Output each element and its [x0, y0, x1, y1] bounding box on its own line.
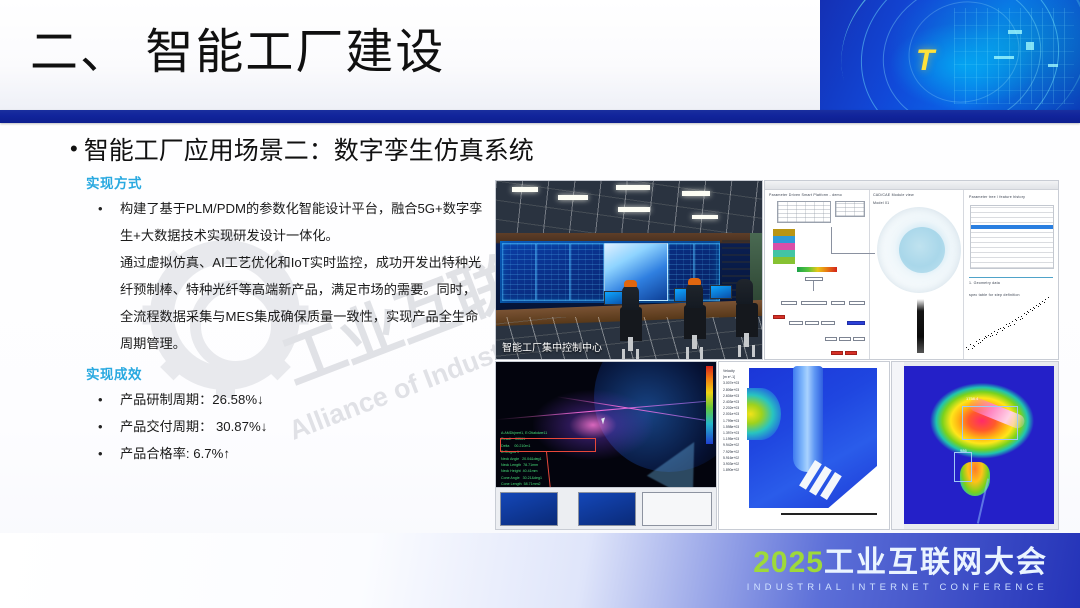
section-heading-implementation: 实现方式	[86, 172, 486, 192]
implementation-bullet-list: 构建了基于PLM/PDM的参数化智能设计平台，融合5G+数字孪生+大数据技术实现…	[86, 195, 486, 249]
thermal-roi-box	[954, 452, 972, 482]
thermal-roi-box	[962, 406, 1018, 440]
thumbnail-view[interactable]	[500, 492, 558, 526]
decorative-circuit-grid	[954, 8, 1074, 104]
cfd-furnace-tube	[793, 366, 823, 472]
slide-header: T 二、 智能工厂建设	[0, 0, 1080, 110]
decorative-blip	[1008, 30, 1022, 34]
header-divider	[0, 110, 1080, 123]
operator-person	[622, 285, 639, 310]
cfd-scale-bar	[781, 513, 877, 515]
chair	[620, 307, 642, 341]
operator-person	[686, 283, 703, 308]
chair	[736, 303, 758, 337]
page-title: 二、 智能工厂建设	[30, 20, 445, 86]
list-item: 构建了基于PLM/PDM的参数化智能设计平台，融合5G+数字孪生+大数据技术实现…	[86, 195, 486, 249]
slide-root: T 二、 智能工厂建设 •智能工厂应用场景二：数字孪生仿真系统 工业互联网联盟 …	[0, 0, 1080, 608]
conference-year: 2025	[753, 546, 824, 579]
content-text-column: 实现方式 构建了基于PLM/PDM的参数化智能设计平台，融合5G+数字孪生+大数…	[86, 172, 486, 467]
list-item: 产品合格率: 6.7%↑	[86, 440, 486, 467]
conference-t-logo: T	[916, 44, 932, 78]
panel-cfd-velocity-contour: Velocity[m s^-1] 3.007e+032.806e+032.604…	[718, 361, 890, 530]
grayscale-colorbar	[917, 299, 924, 353]
list-item: 产品研制周期：26.58%↓	[86, 386, 486, 413]
cad-model-view	[877, 207, 961, 293]
list-item: 产品交付周期： 30.87%↓	[86, 413, 486, 440]
header-tech-graphic: T	[820, 0, 1080, 110]
slide-footer: 2025工业互联网大会 INDUSTRIAL INTERNET CONFEREN…	[0, 533, 1080, 608]
panel-control-room-photo: 智能工厂集中控制中心	[495, 180, 763, 360]
velocity-colorbar	[706, 366, 713, 444]
decorative-blip	[1026, 42, 1034, 50]
thermal-sidebar	[892, 362, 904, 530]
results-bullet-list: 产品研制周期：26.58%↓ 产品交付周期： 30.87%↓ 产品合格率: 6.…	[86, 386, 486, 467]
thumbnail-view[interactable]	[578, 492, 636, 526]
panel-caption-control-room: 智能工厂集中控制中心	[502, 339, 602, 354]
decorative-blip	[1048, 64, 1058, 67]
panel-design-platform-screenshot: Parameter Driven Smart Platform - demo C…	[764, 180, 1059, 360]
implementation-paragraph: 通过虚拟仿真、AI工艺优化和IoT实时监控，成功开发出特种光纤预制棒、特种光纤等…	[86, 249, 486, 357]
correlation-scatter-plot	[958, 291, 1054, 353]
thumbnail-view[interactable]	[642, 492, 712, 526]
conference-logo: 2025工业互联网大会 INDUSTRIAL INTERNET CONFEREN…	[747, 547, 1048, 593]
highlighted-readout-box	[500, 438, 596, 452]
cfd-legend-labels: Velocity[m s^-1] 3.007e+032.806e+032.604…	[723, 368, 739, 473]
panel-fiber-drawing-simulation: A:AMDkjnert1, E:Otiakdwe11 Result 00561 …	[495, 361, 717, 530]
operator-person	[736, 279, 753, 304]
parameter-tree	[970, 205, 1054, 269]
image-grid: 智能工厂集中控制中心 Parameter Driven Smart Platfo…	[495, 180, 1059, 530]
main-bullet-text: 智能工厂应用场景二：数字孪生仿真系统	[84, 137, 534, 165]
section-heading-results: 实现成效	[86, 363, 486, 383]
chair	[684, 305, 706, 339]
decorative-blip	[994, 56, 1014, 59]
window-titlebar	[765, 181, 1058, 190]
panel-thermal-imaging-view: 1758.4 986	[891, 361, 1059, 530]
main-bullet-line: •智能工厂应用场景二：数字孪生仿真系统	[70, 131, 534, 167]
bullet-marker-icon: •	[70, 136, 78, 161]
thermal-background: 1758.4 986	[904, 366, 1054, 524]
thumbnail-strip	[496, 487, 716, 529]
parameter-tree-selected-row	[971, 225, 1053, 229]
conference-name-cn: 工业互联网大会	[824, 546, 1048, 579]
conference-name-en: INDUSTRIAL INTERNET CONFERENCE	[747, 582, 1048, 593]
